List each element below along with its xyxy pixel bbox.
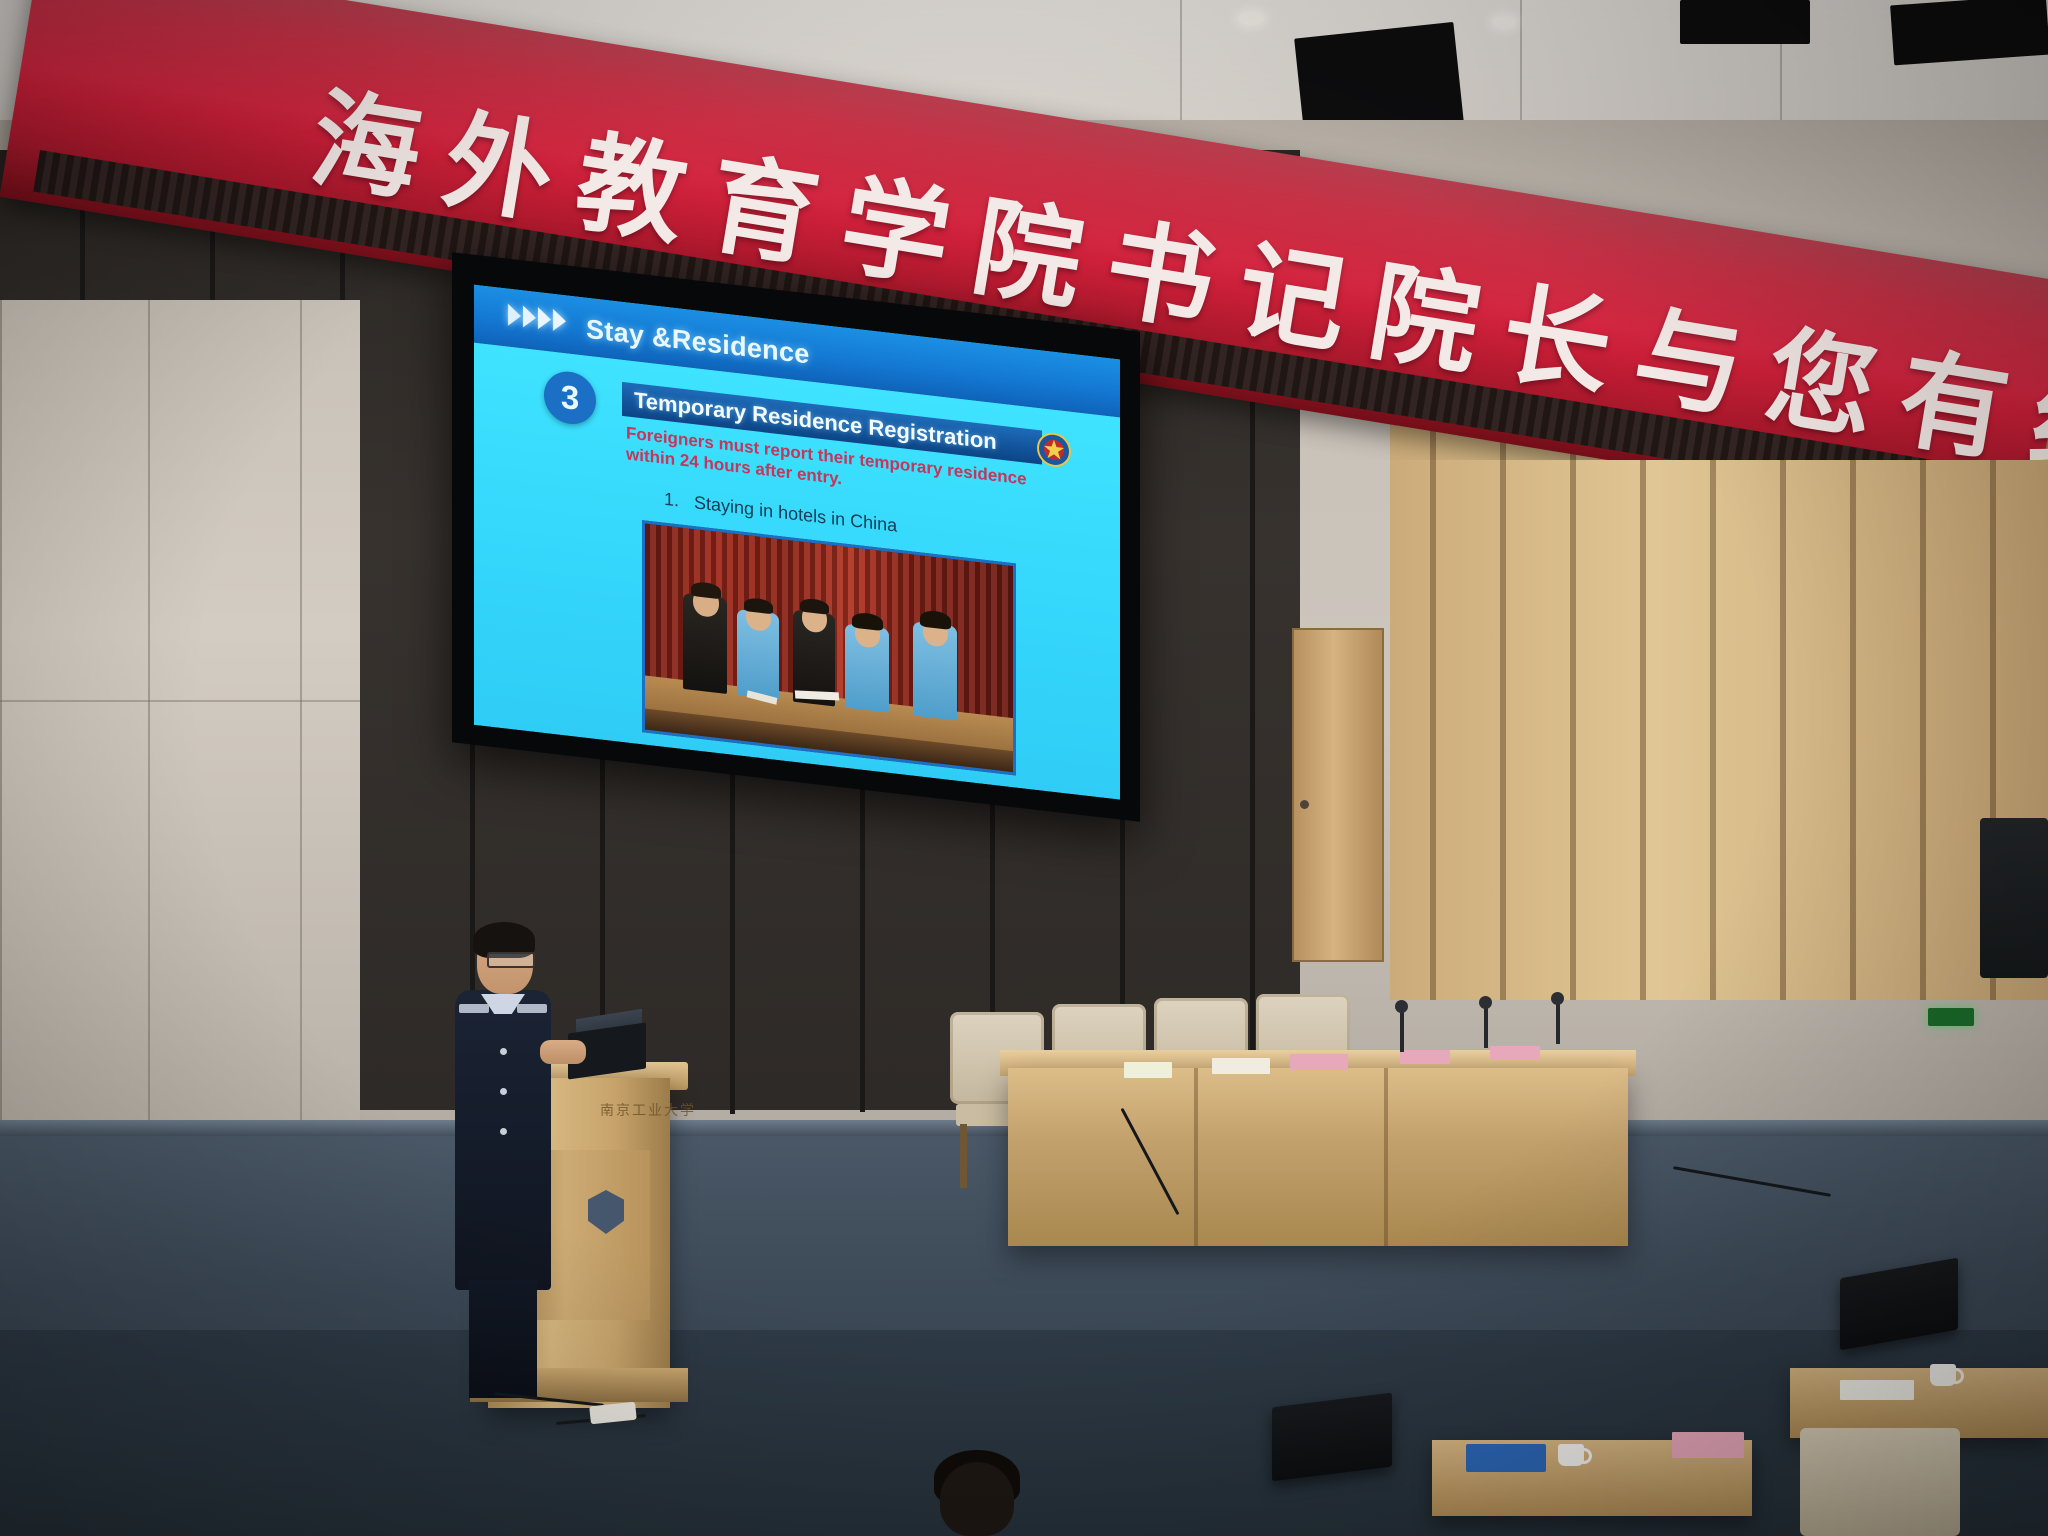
microphone[interactable] (1400, 1008, 1404, 1052)
presentation-slide: Stay &Residence 3 Temporary Residence Re… (474, 285, 1120, 800)
door-knob-icon (1300, 800, 1309, 809)
paper (1840, 1380, 1914, 1400)
double-chevron-right-icon (508, 304, 566, 333)
exit-sign (1928, 1008, 1974, 1026)
cup (1930, 1364, 1956, 1386)
microphone-head-icon (1395, 1000, 1408, 1013)
podium-label: 南京工业大学 (600, 1100, 720, 1120)
microphone-head-icon (1551, 992, 1564, 1005)
pink-paper (1290, 1054, 1348, 1070)
slide-photo (642, 520, 1016, 775)
audience-head (940, 1462, 1014, 1536)
microphone[interactable] (1556, 1000, 1560, 1044)
pink-paper (1672, 1432, 1744, 1458)
floor-monitor (1272, 1393, 1392, 1482)
microphone-head-icon (1479, 996, 1492, 1009)
paper (1124, 1062, 1172, 1078)
wall-mounted-speaker (1980, 818, 2048, 978)
projection-screen: Stay &Residence 3 Temporary Residence Re… (452, 252, 1140, 822)
wood-wall (1390, 300, 2048, 1000)
pink-paper (1490, 1046, 1540, 1060)
slide-body: 3 Temporary Residence Registration Forei… (474, 343, 1120, 800)
paper (1212, 1058, 1270, 1074)
list-item-number: 1. (664, 489, 679, 511)
cup (1558, 1444, 1584, 1466)
presenter (455, 928, 551, 1398)
lecture-hall-photo: 海外教育学院书记院长与您有约暨节前专题讲座 Stay &Residence 3 … (0, 0, 2048, 1536)
section-number-badge: 3 (544, 369, 596, 427)
front-chair[interactable] (1800, 1428, 1960, 1536)
stage-side-door[interactable] (1292, 628, 1384, 962)
folder (1466, 1444, 1546, 1472)
presenter-hands (540, 1040, 586, 1064)
microphone[interactable] (1484, 1004, 1488, 1048)
left-wall-panel (0, 300, 360, 1130)
pink-paper (1400, 1050, 1450, 1064)
head-table (1008, 1068, 1628, 1246)
police-badge-icon (1034, 428, 1074, 473)
